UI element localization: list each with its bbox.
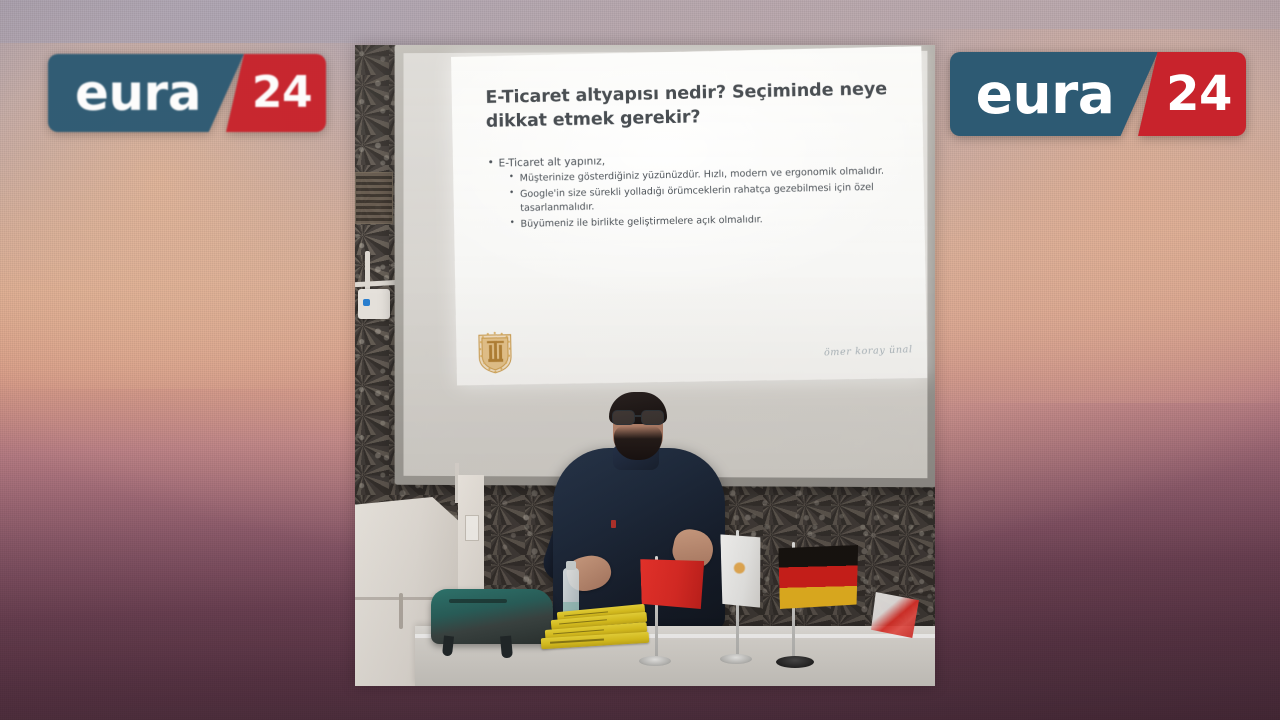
water-bottle-cap bbox=[566, 561, 576, 570]
slide-signature: ömer koray ünal bbox=[824, 344, 913, 358]
seminar-photo: E-Ticaret altyapısı nedir? Seçiminde ney… bbox=[355, 45, 935, 686]
germany-flag bbox=[778, 545, 860, 609]
eura24-logo-left: eura 24 bbox=[48, 54, 328, 132]
slide-title: E-Ticaret altyapısı nedir? Seçiminde ney… bbox=[485, 77, 896, 134]
logo-left-number: 24 bbox=[252, 71, 312, 115]
sweater-logo bbox=[611, 520, 616, 528]
projected-slide: E-Ticaret altyapısı nedir? Seçiminde ney… bbox=[451, 46, 927, 385]
glasses-bridge bbox=[634, 415, 642, 417]
logo-right-number: 24 bbox=[1166, 70, 1232, 118]
logo-left-wordmark: eura bbox=[75, 68, 201, 118]
wall-vent bbox=[355, 172, 393, 224]
glasses-left-lens bbox=[612, 410, 635, 425]
folded-red-cloth bbox=[871, 592, 919, 638]
screenshot-stage: eura 24 eura 24 E-Ticaret bbox=[0, 0, 1280, 720]
logo-right-wordmark: eura bbox=[976, 67, 1115, 122]
institution-flag bbox=[720, 534, 761, 609]
turkey-flag-base bbox=[639, 656, 671, 666]
turkey-flag bbox=[640, 557, 706, 611]
logo-right-red-panel: 24 bbox=[1138, 52, 1246, 136]
wall-bracket-vertical bbox=[365, 251, 370, 293]
speaker-glasses bbox=[611, 410, 665, 424]
slide-sub-bullets: Müşterinize gösterdiğiniz yüzünüzdür. Hı… bbox=[487, 164, 909, 233]
institution-flag-base bbox=[720, 654, 752, 664]
cabinet-handle bbox=[399, 593, 403, 629]
logo-right-blue-panel: eura bbox=[950, 52, 1158, 136]
logo-left-red-panel: 24 bbox=[226, 54, 326, 132]
eura24-logo-right: eura 24 bbox=[950, 52, 1248, 136]
university-crest-emblem bbox=[476, 329, 515, 375]
wall-mounted-device bbox=[358, 289, 390, 319]
logo-left-blue-panel: eura bbox=[48, 54, 244, 132]
backpack-strap bbox=[500, 636, 513, 659]
glasses-right-lens bbox=[641, 410, 664, 425]
germany-flag-base bbox=[776, 656, 814, 668]
slide-body: E-Ticaret alt yapınız, Müşterinize göste… bbox=[487, 147, 909, 234]
